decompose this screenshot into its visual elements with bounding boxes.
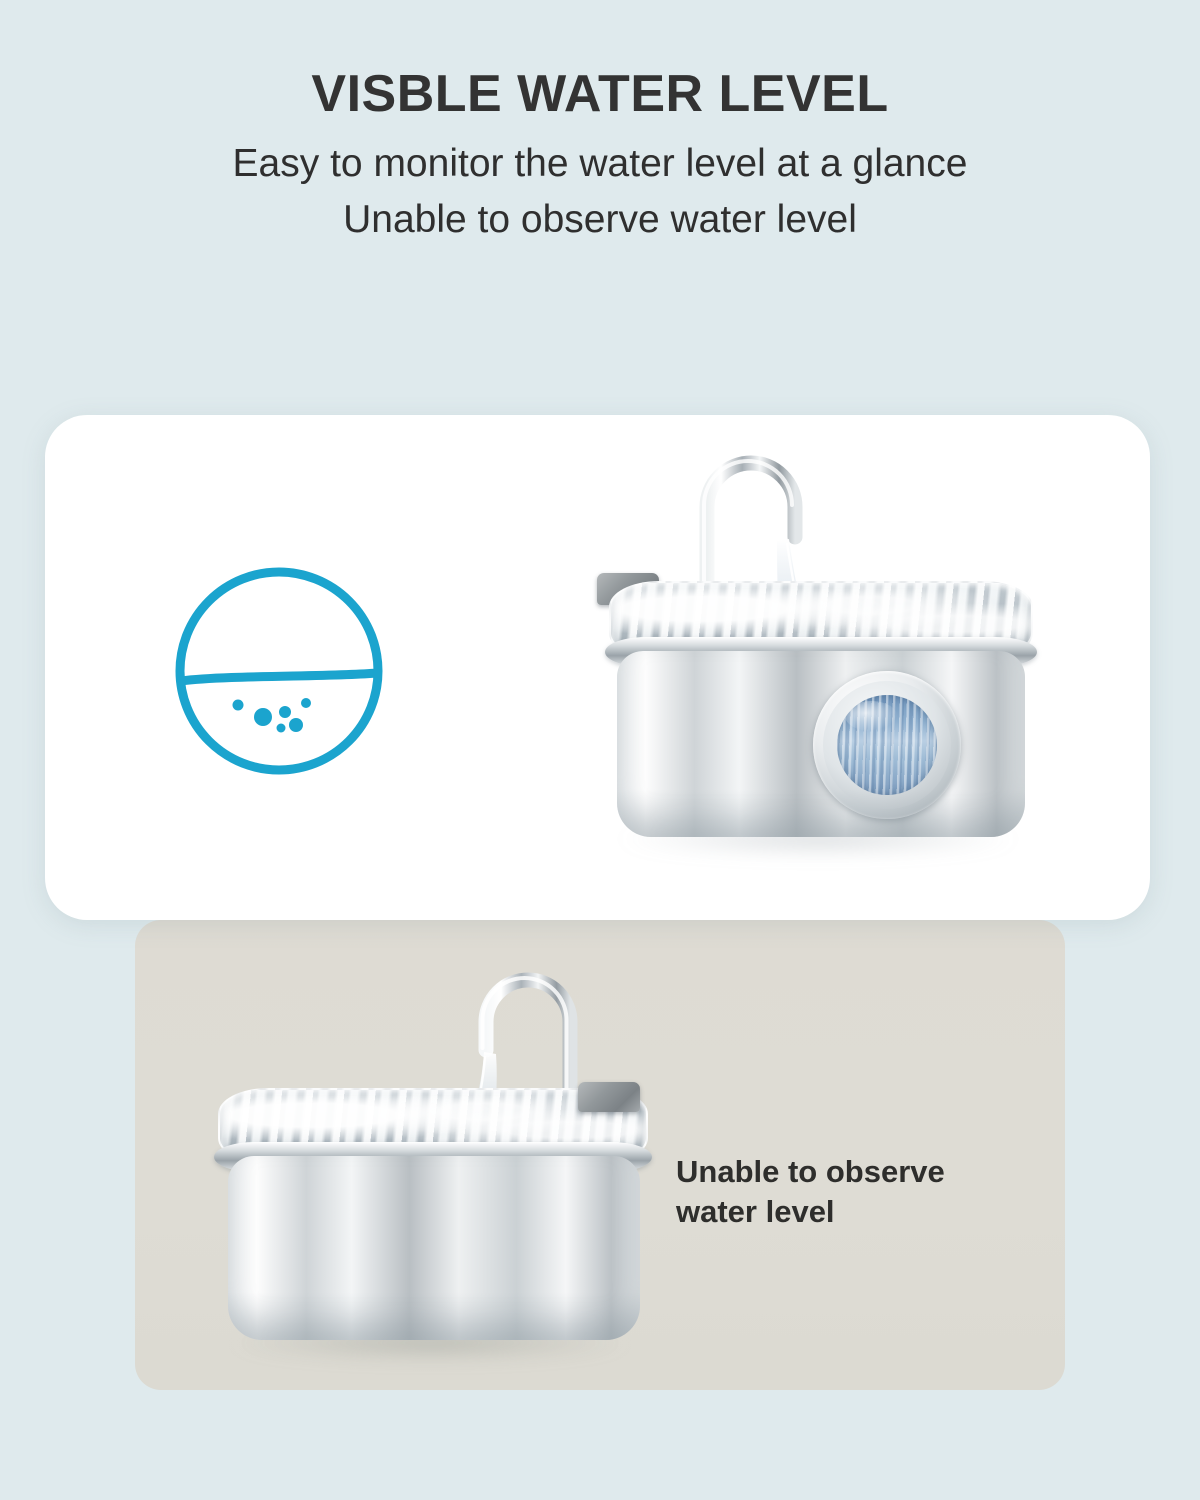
subtitle-line-2: Unable to observe water level [0, 192, 1200, 247]
fountain-power-module [578, 1082, 640, 1112]
bad-caption-line-2: water level [676, 1192, 1036, 1232]
fountain-body [228, 1156, 640, 1340]
water-level-circle-icon [168, 560, 390, 782]
fountain-without-window [200, 960, 670, 1380]
water-level-window-glass [837, 695, 938, 796]
product-feature-page: VISBLE WATER LEVEL Easy to monitor the w… [0, 0, 1200, 1500]
fountain-with-window [585, 445, 1055, 875]
water-level-window-ring [823, 681, 950, 808]
subtitle-line-1: Easy to monitor the water level at a gla… [0, 136, 1200, 191]
water-level-window [813, 671, 961, 819]
fountain-body [617, 651, 1025, 837]
page-title: VISBLE WATER LEVEL [0, 66, 1200, 122]
bad-example-caption: Unable to observe water level [676, 1152, 1036, 1231]
bad-caption-line-1: Unable to observe [676, 1152, 1036, 1192]
header: VISBLE WATER LEVEL Easy to monitor the w… [0, 0, 1200, 247]
